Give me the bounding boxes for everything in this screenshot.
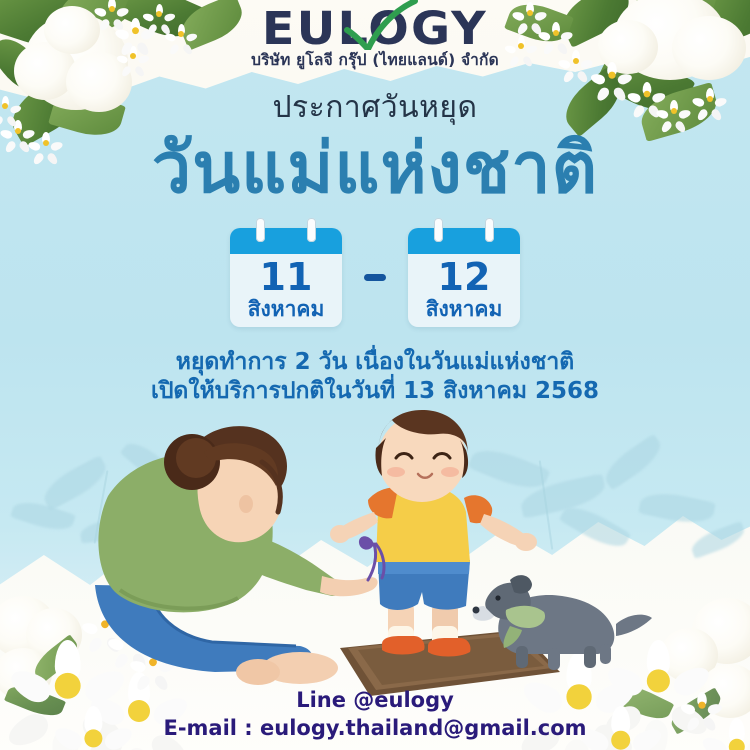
calendar-header-bar xyxy=(408,228,520,254)
calendar-start-date: 11 สิงหาคม xyxy=(230,228,342,327)
announcement-label: ประกาศวันหยุด xyxy=(0,84,750,131)
calendar-day-number: 11 xyxy=(230,254,342,298)
calendar-ring-left-icon xyxy=(256,218,265,242)
calendar-end-date: 12 สิงหาคม xyxy=(408,228,520,327)
mother-and-child-illustration xyxy=(0,400,750,700)
company-logo: EULOGY บริษัท ยูโลจี กรุ๊ป (ไทยแลนด์) จำ… xyxy=(0,6,750,69)
calendar-day-number: 12 xyxy=(408,254,520,298)
calendar-month-name: สิงหาคม xyxy=(408,298,520,321)
date-range-separator xyxy=(364,274,386,281)
calendar-ring-right-icon xyxy=(485,218,494,242)
mother-figure xyxy=(95,426,378,685)
page-title: วันแม่แห่งชาติ xyxy=(0,128,750,209)
logo-brand-text: EULOGY xyxy=(244,6,507,51)
logo-mark: EULOGY บริษัท ยูโลจี กรุ๊ป (ไทยแลนด์) จำ… xyxy=(251,6,499,69)
holiday-details: หยุดทำการ 2 วัน เนื่องในวันแม่แห่งชาติ เ… xyxy=(0,348,750,407)
calendar-ring-right-icon xyxy=(307,218,316,242)
detail-line-reopen: เปิดให้บริการปกติในวันที่ 13 สิงหาคม 256… xyxy=(0,377,750,406)
logo-subtitle-thai: บริษัท ยูโลจี กรุ๊ป (ไทยแลนด์) จำกัด xyxy=(251,53,499,69)
holiday-announcement-poster: EULOGY บริษัท ยูโลจี กรุ๊ป (ไทยแลนด์) จำ… xyxy=(0,0,750,750)
date-range: 11 สิงหาคม 12 สิงหาคม xyxy=(0,228,750,327)
contact-email[interactable]: E-mail : eulogy.thailand@gmail.com xyxy=(0,715,750,742)
calendar-ring-left-icon xyxy=(434,218,443,242)
calendar-month-name: สิงหาคม xyxy=(230,298,342,321)
detail-line-closed: หยุดทำการ 2 วัน เนื่องในวันแม่แห่งชาติ xyxy=(0,348,750,377)
contact-info: Line @eulogy E-mail : eulogy.thailand@gm… xyxy=(0,687,750,742)
calendar-header-bar xyxy=(230,228,342,254)
contact-line-id[interactable]: Line @eulogy xyxy=(0,687,750,714)
